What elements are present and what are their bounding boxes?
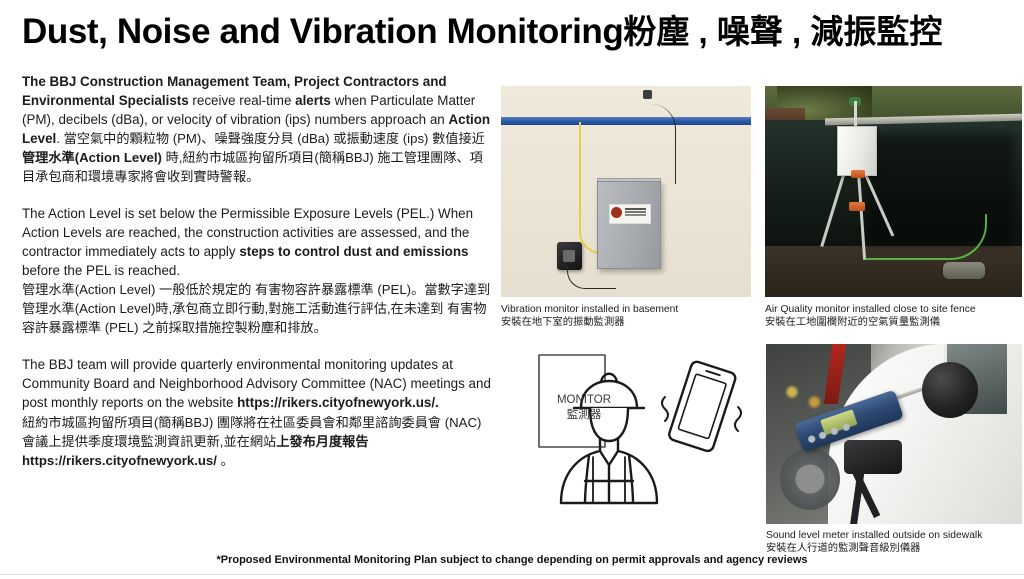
tripod-collar-upper bbox=[851, 170, 865, 178]
caption1-english: Vibration monitor installed in basement bbox=[501, 304, 678, 315]
caption-vibration-monitor: Vibration monitor installed in basement … bbox=[501, 304, 751, 329]
para1-seg6: . 當空氣中的顆粒物 (PM)、噪聲強度分貝 (dBa) 或振動速度 (ips)… bbox=[56, 131, 485, 146]
page-title-chinese: 粉塵 , 噪聲 , 減振監控 bbox=[623, 15, 942, 48]
footer-divider bbox=[0, 574, 1024, 575]
caption2-chinese: 安裝在工地圍欄附近的空氣質量監測儀 bbox=[765, 317, 1022, 330]
cable-clip bbox=[643, 90, 652, 99]
caption2-english: Air Quality monitor installed close to s… bbox=[765, 304, 976, 315]
caption-sound-level-meter: Sound level meter installed outside on s… bbox=[766, 530, 1022, 555]
gray-enclosure bbox=[597, 181, 661, 269]
photo-air-quality-monitor bbox=[765, 86, 1022, 297]
para1-seg7: 管理水準(Action Level) bbox=[22, 150, 162, 165]
tripod-collar-lower bbox=[849, 202, 865, 211]
air-monitor-enclosure bbox=[837, 126, 877, 176]
caption1-chinese: 安裝在地下室的振動監測器 bbox=[501, 317, 751, 330]
photo-sound-level-meter bbox=[766, 344, 1022, 524]
smartphone-icon bbox=[668, 360, 737, 452]
caption3-english: Sound level meter installed outside on s… bbox=[766, 530, 982, 541]
monitor-label: MONITOR 監測器 bbox=[543, 393, 625, 423]
paragraph-alerts: The BBJ Construction Management Team, Pr… bbox=[22, 72, 494, 187]
vibration-wave-left bbox=[662, 397, 668, 421]
website-link[interactable]: https://rikers.cityofnewyork.us/. bbox=[237, 395, 439, 410]
para2-seg4: 管理水準(Action Level) 一般低於規定的 有害物容許暴露標準 (PE… bbox=[22, 282, 490, 335]
para1-seg2: receive real-time bbox=[189, 93, 295, 108]
paragraph-action-level: The Action Level is set below the Permis… bbox=[22, 204, 494, 338]
para3-seg3: 紐約市城區拘留所項目(簡稱BBJ) 團隊將在社區委員會和鄰里諮詢委員會 (NAC… bbox=[22, 415, 481, 449]
para3-seg5: 。 bbox=[217, 453, 234, 468]
vibration-wave-right bbox=[735, 407, 741, 431]
illustration-svg bbox=[505, 345, 755, 530]
vehicle-wheel bbox=[780, 448, 840, 510]
footer-note: *Proposed Environmental Monitoring Plan … bbox=[0, 554, 1024, 566]
sensor-cable bbox=[567, 266, 616, 289]
slide-root: Dust, Noise and Vibration Monitoring 粉塵 … bbox=[0, 0, 1024, 579]
blue-pipe bbox=[501, 117, 751, 125]
label-text-lines bbox=[625, 208, 646, 210]
black-cable bbox=[651, 104, 676, 184]
sampler-mast bbox=[854, 101, 857, 129]
monitor-label-chinese: 監測器 bbox=[567, 409, 602, 421]
photo-vibration-monitor bbox=[501, 86, 751, 297]
para2-seg3: before the PEL is reached. bbox=[22, 263, 180, 278]
paragraph-reporting: The BBJ team will provide quarterly envi… bbox=[22, 355, 494, 470]
page-title-english: Dust, Noise and Vibration Monitoring bbox=[22, 14, 623, 49]
para2-seg2: steps to control dust and emissions bbox=[239, 244, 468, 259]
page-title: Dust, Noise and Vibration Monitoring 粉塵 … bbox=[22, 14, 1007, 49]
body-text-column: The BBJ Construction Management Team, Pr… bbox=[22, 72, 494, 487]
ground-rock bbox=[943, 262, 985, 279]
illustration-monitor-worker-phone: MONITOR 監測器 bbox=[505, 345, 755, 530]
windscreen-foam-ball bbox=[922, 362, 978, 418]
para1-seg3: alerts bbox=[295, 93, 331, 108]
green-power-cable bbox=[865, 214, 987, 260]
monitor-label-english: MONITOR bbox=[557, 394, 611, 406]
caption-air-quality-monitor: Air Quality monitor installed close to s… bbox=[765, 304, 1022, 329]
label-seal-icon bbox=[611, 207, 622, 218]
